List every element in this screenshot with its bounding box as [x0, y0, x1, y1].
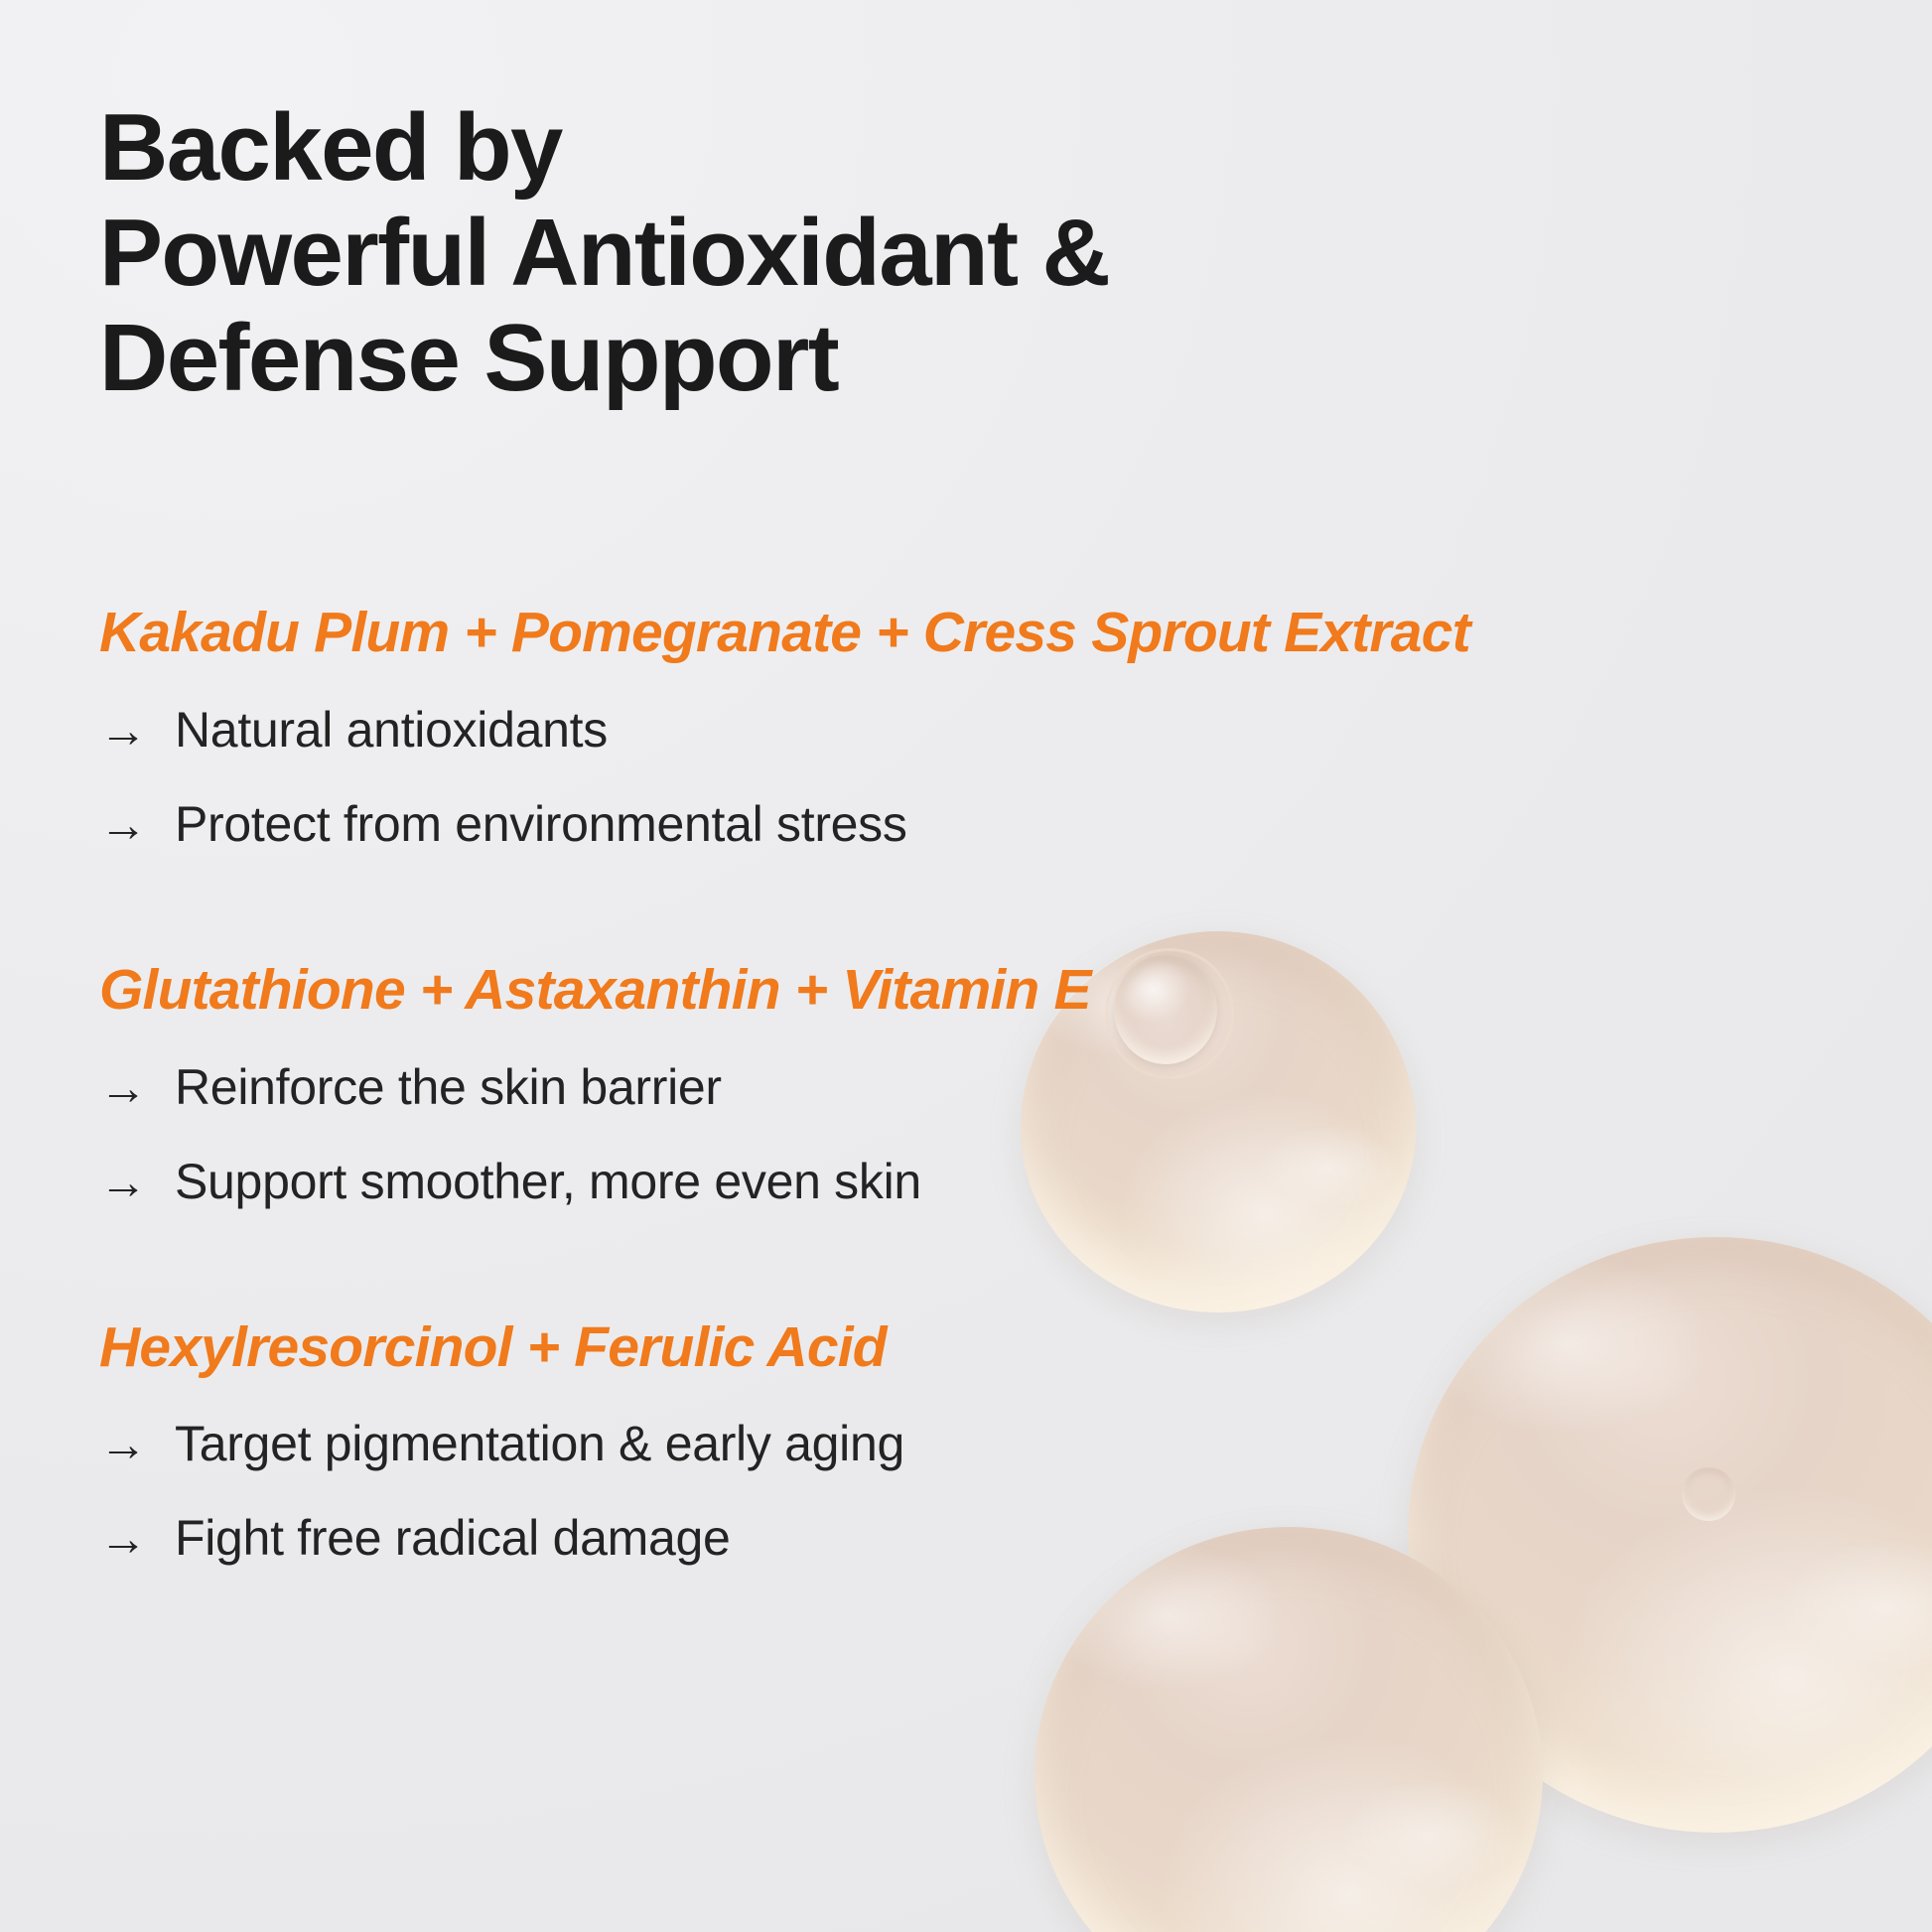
benefit-text: Support smoother, more even skin [175, 1153, 1847, 1211]
benefit-item: → Protect from environmental stress [99, 795, 1847, 854]
benefit-text: Natural antioxidants [175, 701, 1847, 759]
headline-line-1: Backed by [99, 95, 1588, 201]
ingredient-heading-2: Glutathione + Astaxanthin + Vitamin E [99, 959, 1847, 1023]
page-title: Backed by Powerful Antioxidant & Defense… [99, 95, 1588, 411]
benefit-item: → Natural antioxidants [99, 701, 1847, 759]
ingredient-section-3: Hexylresorcinol + Ferulic Acid → Target … [99, 1316, 1847, 1569]
benefit-list-1: → Natural antioxidants → Protect from en… [99, 701, 1847, 854]
benefit-list-2: → Reinforce the skin barrier → Support s… [99, 1058, 1847, 1211]
marketing-slide: Backed by Powerful Antioxidant & Defense… [0, 0, 1932, 1932]
ingredient-sections: Kakadu Plum + Pomegranate + Cress Sprout… [99, 602, 1847, 1568]
benefit-text: Fight free radical damage [175, 1509, 1847, 1568]
arrow-right-icon: → [99, 1516, 175, 1564]
headline-line-3: Defense Support [99, 306, 1588, 411]
benefit-text: Reinforce the skin barrier [175, 1058, 1847, 1117]
benefit-text: Protect from environmental stress [175, 795, 1847, 854]
ingredient-heading-1: Kakadu Plum + Pomegranate + Cress Sprout… [99, 602, 1847, 665]
benefit-text: Target pigmentation & early aging [175, 1415, 1847, 1473]
benefit-list-3: → Target pigmentation & early aging → Fi… [99, 1415, 1847, 1568]
slide-content: Backed by Powerful Antioxidant & Defense… [0, 0, 1932, 1932]
headline-line-2: Powerful Antioxidant & [99, 201, 1588, 306]
arrow-right-icon: → [99, 802, 175, 850]
arrow-right-icon: → [99, 1422, 175, 1469]
ingredient-section-2: Glutathione + Astaxanthin + Vitamin E → … [99, 959, 1847, 1211]
ingredient-section-1: Kakadu Plum + Pomegranate + Cress Sprout… [99, 602, 1847, 854]
arrow-right-icon: → [99, 708, 175, 756]
arrow-right-icon: → [99, 1160, 175, 1207]
ingredient-heading-3: Hexylresorcinol + Ferulic Acid [99, 1316, 1847, 1380]
arrow-right-icon: → [99, 1065, 175, 1113]
benefit-item: → Fight free radical damage [99, 1509, 1847, 1568]
benefit-item: → Support smoother, more even skin [99, 1153, 1847, 1211]
benefit-item: → Target pigmentation & early aging [99, 1415, 1847, 1473]
benefit-item: → Reinforce the skin barrier [99, 1058, 1847, 1117]
